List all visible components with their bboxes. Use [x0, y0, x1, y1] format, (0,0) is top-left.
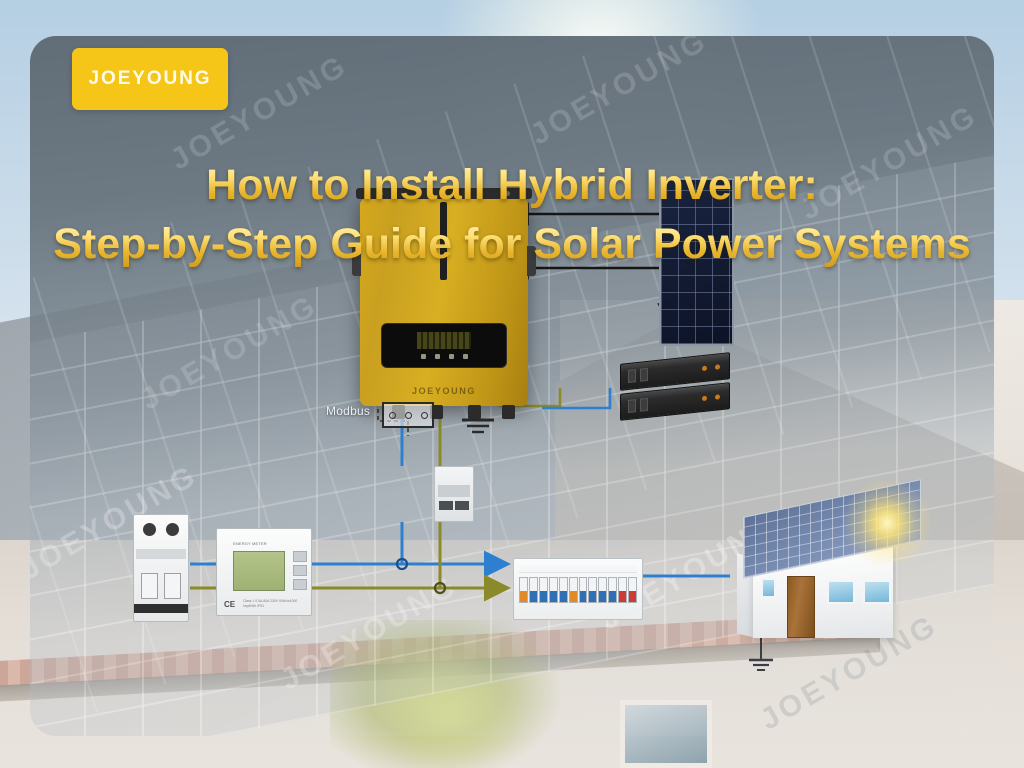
meter-lcd-display: [233, 551, 285, 591]
battery-vent: [628, 399, 636, 413]
cu-breaker-red: [628, 577, 637, 603]
battery-face: [624, 387, 726, 417]
mcb-knob-2: [166, 523, 179, 536]
cu-rcd: [569, 577, 578, 603]
page-canvas: JOEYOUNG JOEYOUNG JOEYOUNG JOEYOUNG JOEY…: [0, 0, 1024, 768]
breaker-lever-2: [455, 501, 469, 510]
cu-breaker: [529, 577, 538, 603]
battery-terminal-negative: [715, 394, 720, 400]
lcd-icon-solar: [435, 354, 440, 359]
cu-main-switch: [519, 577, 528, 603]
energy-meter-graphic: ENERGY METER CE Class 1 0.5A-80A 230V 50…: [216, 528, 312, 616]
meter-rating-text: Class 1 0.5A-80A 230V 50Hz\n1000 imp/kWh…: [243, 599, 311, 608]
inverter-brand-label: JOEYOUNG: [360, 386, 528, 396]
hybrid-inverter-graphic: JOEYOUNG: [360, 198, 528, 406]
lcd-segments: [417, 332, 471, 349]
breaker-lever-1: [439, 501, 453, 510]
meter-ce-mark: CE: [224, 600, 235, 609]
meter-button-2[interactable]: [293, 565, 307, 576]
content-panel: JOEYOUNG JOEYOUNG JOEYOUNG JOEYOUNG JOEY…: [30, 36, 994, 736]
cu-breaker-red: [618, 577, 627, 603]
modbus-pin: [421, 412, 428, 419]
cu-breaker: [549, 577, 558, 603]
modbus-pin: [405, 412, 412, 419]
solar-panel-graphic: [659, 178, 734, 346]
meter-button-1[interactable]: [293, 551, 307, 562]
battery-vent: [640, 368, 648, 382]
mcb-knob-1: [143, 523, 156, 536]
battery-face: [624, 357, 726, 387]
house-window: [863, 580, 891, 604]
house-window: [827, 580, 855, 604]
lcd-status-icons: [421, 354, 468, 359]
meter-model-text: ENERGY METER: [233, 541, 267, 546]
house-window-side: [761, 578, 776, 598]
inverter-bottom-port-4: [502, 405, 515, 419]
modbus-connector: [382, 402, 434, 428]
mcb-label-strip: [136, 549, 186, 559]
cu-breaker: [588, 577, 597, 603]
meter-button-3[interactable]: [293, 579, 307, 590]
battery-terminal-positive: [702, 396, 707, 402]
lcd-icon-battery: [449, 354, 454, 359]
breaker-slot: [438, 485, 470, 497]
cu-breaker: [579, 577, 588, 603]
consumer-unit-breaker-rail: [519, 577, 637, 603]
house-graphic: [735, 484, 925, 644]
two-pole-mcb: [133, 514, 189, 622]
house-door: [787, 576, 815, 638]
inverter-bottom-port-3: [468, 405, 481, 419]
modbus-label: Modbus: [326, 404, 370, 418]
inverter-side-port-left: [352, 246, 361, 276]
consumer-unit-top-trim: [519, 566, 637, 573]
consumer-unit-graphic: [513, 558, 643, 620]
battery-stack-graphic: [620, 358, 730, 418]
mcb-toggle-1: [141, 573, 158, 599]
battery-vent: [628, 369, 636, 383]
mcb-terminal-base: [134, 604, 188, 613]
cu-breaker: [608, 577, 617, 603]
inverter-side-port-right: [527, 246, 536, 276]
installation-diagram: JOEYOUNG: [30, 36, 994, 736]
inverter-heatsink-fin: [440, 202, 447, 280]
battery-vent: [640, 398, 648, 412]
cu-breaker: [559, 577, 568, 603]
inverter-lcd-display: [381, 323, 507, 368]
mcb-toggle-2: [164, 573, 181, 599]
inverter-top-bracket: [356, 188, 532, 199]
lcd-icon-load: [463, 354, 468, 359]
modbus-pin: [389, 412, 396, 419]
battery-terminal-negative: [715, 364, 720, 370]
battery-terminal-positive: [702, 366, 707, 372]
cu-breaker: [598, 577, 607, 603]
cu-breaker: [539, 577, 548, 603]
dc-isolator-breaker: [434, 466, 474, 522]
lcd-icon-grid: [421, 354, 426, 359]
